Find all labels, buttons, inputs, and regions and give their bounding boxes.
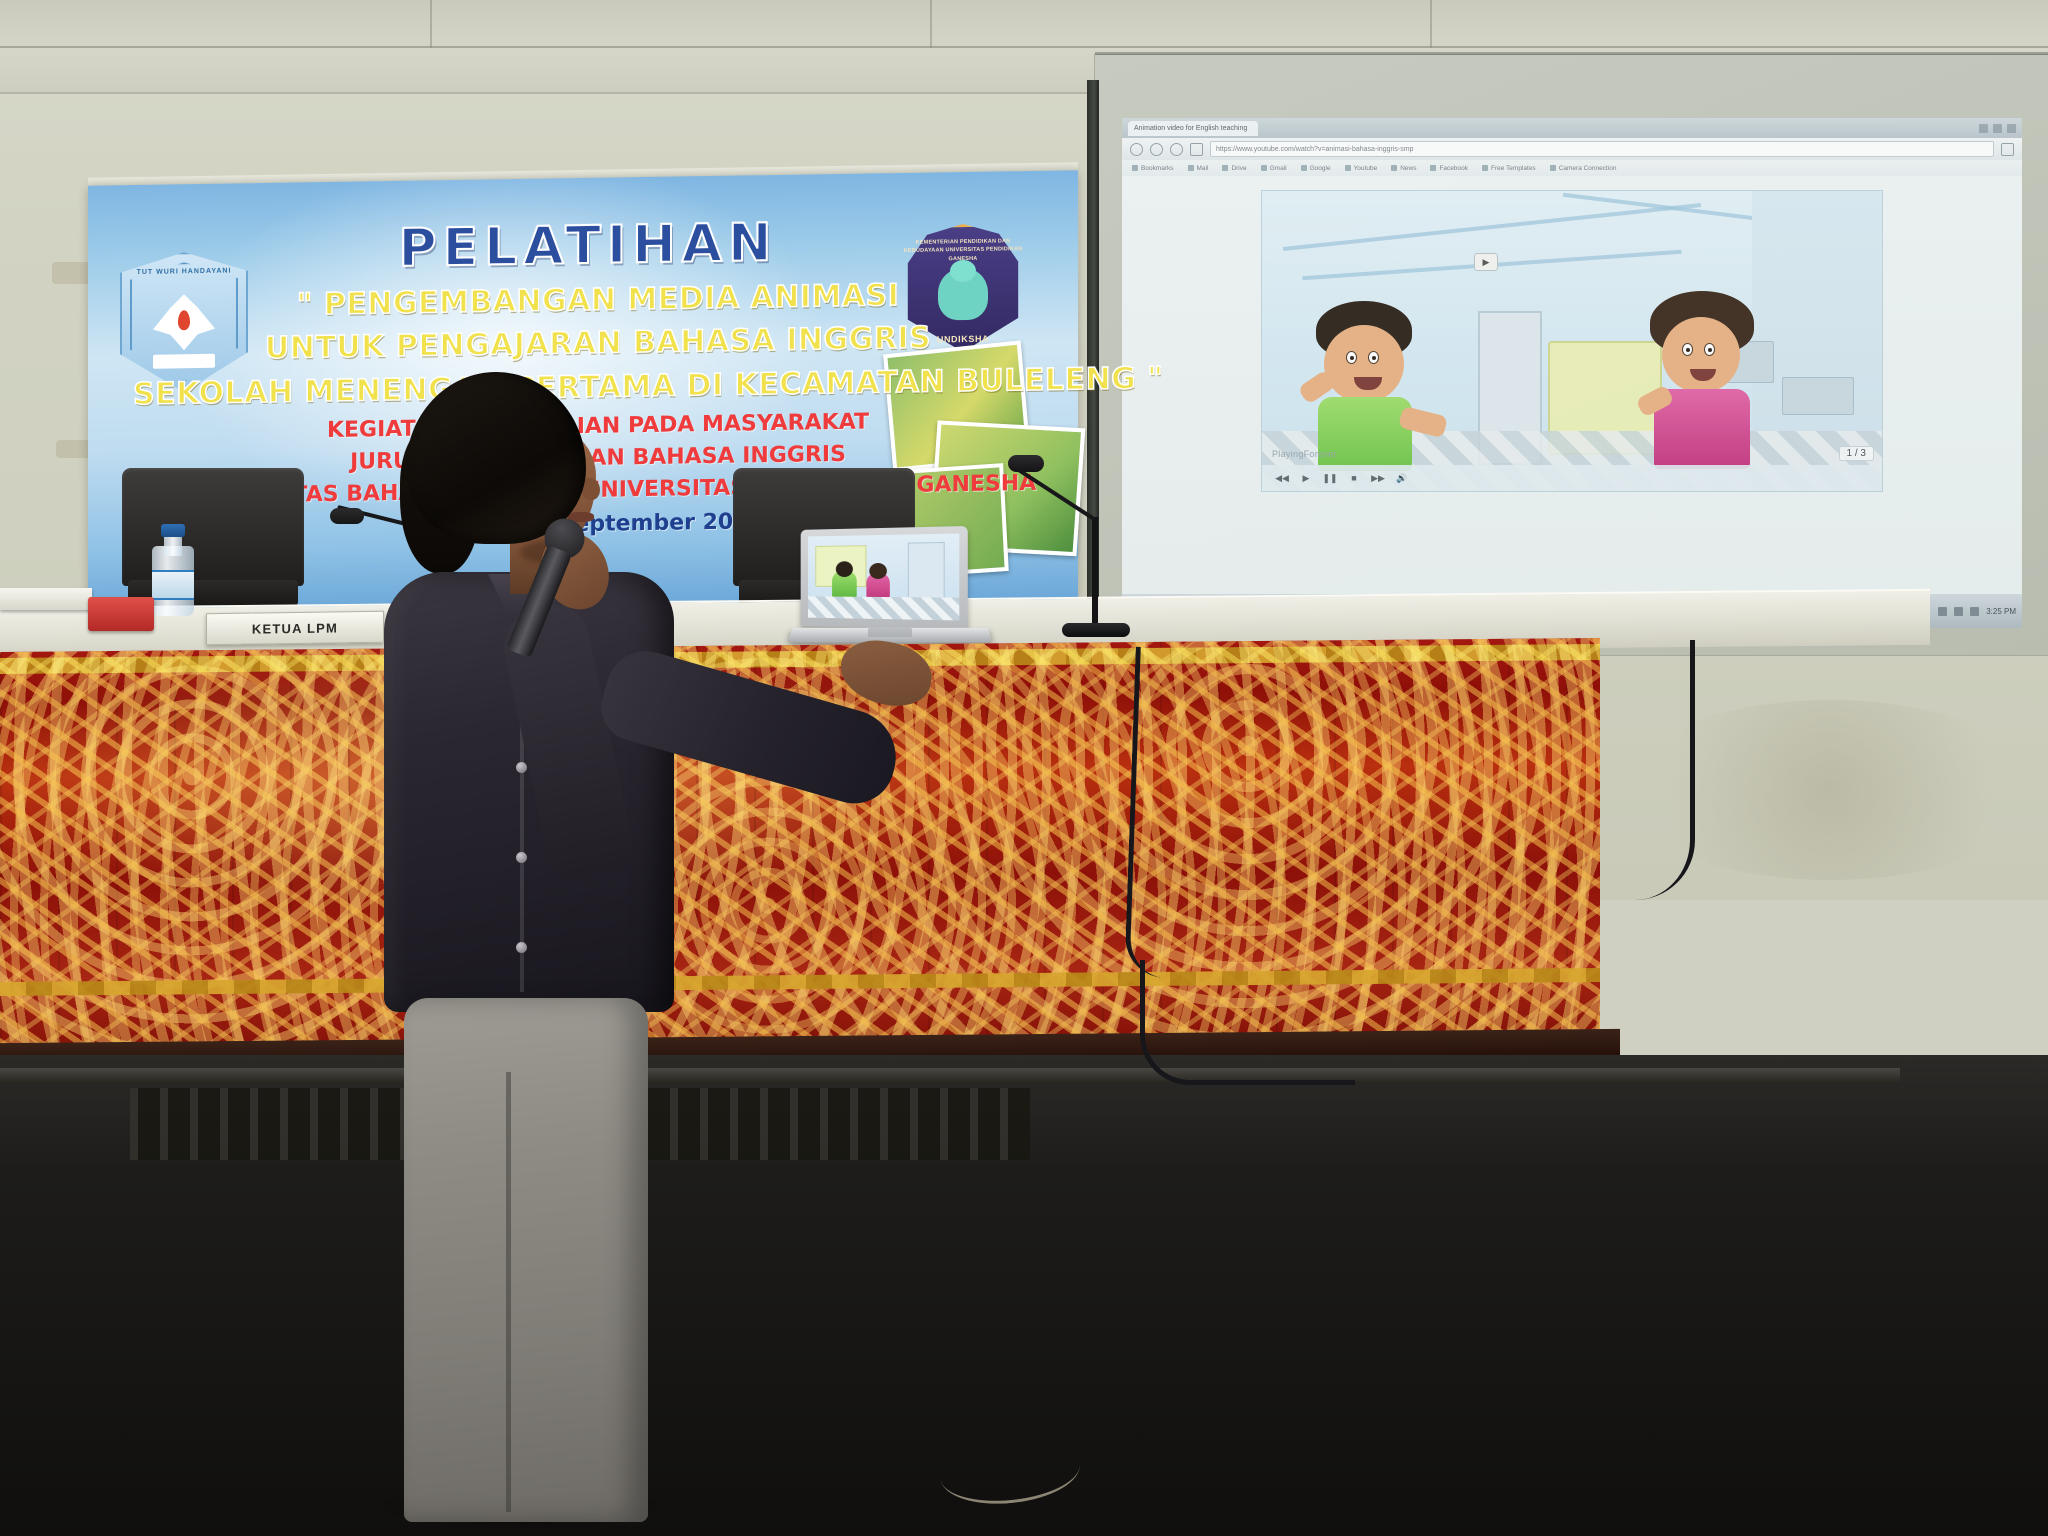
bookmark-label: Youtube bbox=[1354, 165, 1378, 172]
browser-tab[interactable]: Animation video for English teaching bbox=[1128, 121, 1258, 136]
maximize-button[interactable] bbox=[1993, 124, 2002, 133]
paper-stack bbox=[0, 588, 92, 610]
banner-headline-1: " PENGEMBANGAN MEDIA ANIMASI bbox=[248, 277, 948, 323]
volume-icon[interactable]: 🔊 bbox=[1396, 472, 1408, 484]
boy-pupil bbox=[1350, 356, 1354, 360]
address-bar[interactable]: https://www.youtube.com/watch?v=animasi-… bbox=[1210, 141, 1994, 157]
nameplate-label: KETUA LPM bbox=[252, 620, 338, 636]
ceiling-tile-line bbox=[1430, 0, 1432, 48]
bookmark-label: Gmail bbox=[1270, 165, 1287, 172]
mic-boom bbox=[1013, 465, 1096, 521]
girl-eye bbox=[1682, 343, 1693, 356]
taskbar-clock: 3:25 PM bbox=[1986, 607, 2016, 616]
cartoon-character-girl bbox=[1634, 291, 1794, 471]
projected-browser-window: Animation video for English teaching htt… bbox=[1122, 118, 2022, 628]
forward-icon[interactable] bbox=[1150, 143, 1163, 156]
browser-titlebar: Animation video for English teaching bbox=[1122, 118, 2022, 138]
bookmark-item[interactable]: Camera Connection bbox=[1550, 165, 1617, 172]
ceiling-seam bbox=[0, 46, 2048, 48]
boy-pupil bbox=[1372, 356, 1376, 360]
bookmark-item[interactable]: Facebook bbox=[1430, 165, 1468, 172]
bottle-label bbox=[152, 570, 194, 600]
battery-icon[interactable] bbox=[1970, 607, 1979, 616]
cartoon-character-boy bbox=[1296, 301, 1446, 471]
network-icon[interactable] bbox=[1938, 607, 1947, 616]
next-button[interactable]: ▶▶ bbox=[1372, 472, 1384, 484]
presenter-shirt-button bbox=[516, 762, 527, 773]
system-tray: 3:25 PM bbox=[1938, 607, 2016, 616]
laptop-scene-door bbox=[908, 542, 945, 600]
floor-microphone-right bbox=[1000, 455, 1130, 645]
bookmark-icon bbox=[1430, 165, 1436, 171]
pause-button[interactable]: ❚❚ bbox=[1324, 472, 1336, 484]
chair-backrest bbox=[122, 468, 304, 586]
volume-icon[interactable] bbox=[1954, 607, 1963, 616]
presenter bbox=[370, 372, 910, 1536]
power-cable bbox=[1124, 647, 1220, 980]
boy-shirt bbox=[1318, 397, 1412, 471]
bookmark-item[interactable]: Google bbox=[1301, 165, 1331, 172]
bookmark-icon bbox=[1132, 165, 1138, 171]
bookmark-label: Free Templates bbox=[1491, 165, 1536, 172]
bookmark-label: Facebook bbox=[1439, 165, 1468, 172]
boy-eye bbox=[1346, 351, 1357, 364]
stage-rail bbox=[0, 1068, 1900, 1082]
boy-eye bbox=[1368, 351, 1379, 364]
ceiling-tile-line bbox=[430, 0, 432, 48]
chair-left bbox=[122, 468, 304, 618]
bookmark-item[interactable]: News bbox=[1391, 165, 1416, 172]
bookmark-label: News bbox=[1400, 165, 1416, 172]
bookmark-icon bbox=[1188, 165, 1194, 171]
workshop-photo-scene: Animation video for English teaching htt… bbox=[0, 0, 2048, 1536]
bookmark-item[interactable]: Gmail bbox=[1261, 165, 1287, 172]
power-cable bbox=[1430, 640, 1695, 900]
girl-eye bbox=[1704, 343, 1715, 356]
bookmark-item[interactable]: Youtube bbox=[1345, 165, 1378, 172]
bookmark-item[interactable]: Mail bbox=[1188, 165, 1209, 172]
browser-navbar: https://www.youtube.com/watch?v=animasi-… bbox=[1122, 138, 2022, 160]
home-icon[interactable] bbox=[1190, 143, 1203, 156]
presenter-shirt-button bbox=[516, 852, 527, 863]
red-box bbox=[88, 597, 154, 631]
address-bar-value: https://www.youtube.com/watch?v=animasi-… bbox=[1216, 146, 1413, 153]
mic-head bbox=[330, 508, 364, 524]
video-page-indicator: 1 / 3 bbox=[1839, 446, 1874, 461]
presenter-trousers bbox=[404, 998, 648, 1522]
logo-book-icon bbox=[153, 354, 215, 369]
ceiling-tile-line bbox=[930, 0, 932, 48]
play-button[interactable]: ▶ bbox=[1300, 472, 1312, 484]
water-bottle bbox=[152, 524, 194, 616]
logo-flame-icon bbox=[178, 310, 190, 330]
bottle-neck bbox=[164, 534, 182, 556]
bookmark-item[interactable]: Free Templates bbox=[1482, 165, 1536, 172]
bookmark-label: Google bbox=[1310, 165, 1331, 172]
presenter-trouser-seam bbox=[506, 1072, 511, 1512]
bookmark-icon bbox=[1482, 165, 1488, 171]
video-watermark: PlayingForever bbox=[1272, 449, 1337, 459]
animation-video-player[interactable]: ▶ PlayingForever 1 / 3 ◀◀ ▶ ❚❚ ■ ▶▶ 🔊 bbox=[1261, 190, 1883, 492]
window-buttons bbox=[1979, 124, 2016, 133]
mic-base bbox=[1062, 623, 1130, 637]
girl-pupil bbox=[1686, 348, 1690, 352]
bookmarks-bar: Bookmarks Mail Drive Gmail Google Youtub… bbox=[1122, 160, 2022, 176]
speech-bubble-icon: ▶ bbox=[1474, 253, 1498, 271]
previous-button[interactable]: ◀◀ bbox=[1276, 472, 1288, 484]
video-control-bar: ◀◀ ▶ ❚❚ ■ ▶▶ 🔊 bbox=[1262, 465, 1882, 491]
bookmark-item[interactable]: Bookmarks bbox=[1132, 165, 1174, 172]
reload-icon[interactable] bbox=[1170, 143, 1183, 156]
bookmark-label: Camera Connection bbox=[1559, 165, 1617, 172]
tut-wuri-handayani-logo: TUT WURI HANDAYANI bbox=[120, 251, 248, 393]
stop-button[interactable]: ■ bbox=[1348, 472, 1360, 484]
back-icon[interactable] bbox=[1130, 143, 1143, 156]
browser-tab-label: Animation video for English teaching bbox=[1134, 125, 1247, 132]
bookmark-label: Bookmarks bbox=[1141, 165, 1174, 172]
girl-head bbox=[1662, 317, 1740, 393]
mic-post bbox=[1092, 517, 1098, 627]
wall-patch bbox=[52, 262, 92, 284]
bottle-cap bbox=[161, 524, 185, 537]
power-cable bbox=[1140, 960, 1355, 1085]
close-button[interactable] bbox=[2007, 124, 2016, 133]
browser-viewport: ▶ PlayingForever 1 / 3 ◀◀ ▶ ❚❚ ■ ▶▶ 🔊 bbox=[1122, 176, 2022, 594]
boy-head bbox=[1324, 325, 1404, 403]
bookmark-icon bbox=[1222, 165, 1228, 171]
mic-head bbox=[1008, 455, 1044, 472]
bookmark-item[interactable]: Drive bbox=[1222, 165, 1246, 172]
minimize-button[interactable] bbox=[1979, 124, 1988, 133]
bookmark-icon bbox=[1550, 165, 1556, 171]
banner-headline-2: UNTUK PENGAJARAN BAHASA INGGRIS bbox=[218, 320, 978, 367]
bookmark-label: Drive bbox=[1231, 165, 1246, 172]
presenter-shirt-button bbox=[516, 942, 527, 953]
bookmark-icon bbox=[1301, 165, 1307, 171]
bookmark-label: Mail bbox=[1197, 165, 1209, 172]
girl-pupil bbox=[1708, 348, 1712, 352]
banner-title: PELATIHAN bbox=[308, 212, 868, 281]
wall-patch bbox=[56, 440, 90, 458]
bookmark-icon bbox=[1261, 165, 1267, 171]
menu-icon[interactable] bbox=[2001, 143, 2014, 156]
bookmark-icon bbox=[1391, 165, 1397, 171]
bookmark-icon bbox=[1345, 165, 1351, 171]
